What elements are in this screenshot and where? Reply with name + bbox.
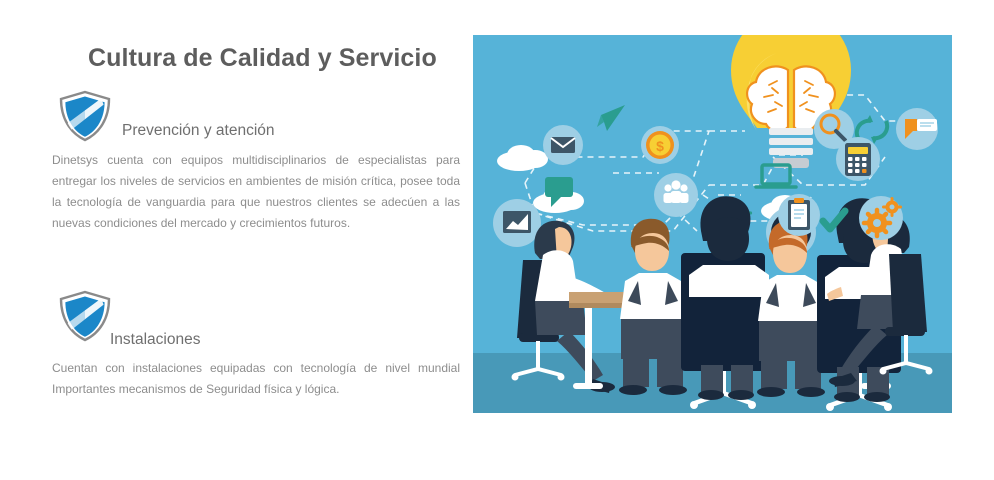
page-root: Cultura de Calidad y Servicio Prevención…: [0, 0, 994, 480]
envelope-icon: [543, 125, 583, 165]
feature-title: Instalaciones: [110, 331, 200, 349]
feature-body: Cuentan con instalaciones equipadas con …: [52, 358, 460, 400]
chat-list-icon: [896, 108, 938, 150]
shield-icon: [57, 288, 113, 344]
feature-title: Prevención y atención: [122, 122, 275, 140]
page-title: Cultura de Calidad y Servicio: [88, 44, 437, 73]
feature-paragraph: Dinetsys cuenta con equipos multidiscipl…: [52, 150, 460, 234]
feature-body: Dinetsys cuenta con equipos multidiscipl…: [52, 150, 460, 234]
svg-text:$: $: [656, 138, 664, 154]
feature-paragraph: Cuentan con instalaciones equipadas con …: [52, 358, 460, 400]
shield-icon: [57, 88, 113, 144]
orange-gears-icon: [859, 196, 903, 240]
clipboard-icon: [778, 194, 820, 236]
dollar-coin-icon: $: [641, 126, 679, 164]
laptop-icon: [924, 166, 925, 167]
content-column: Cultura de Calidad y Servicio Prevención…: [0, 0, 473, 480]
chart-icon: [493, 199, 541, 247]
people-group-icon: [654, 173, 698, 217]
illustration-image: $: [473, 35, 952, 413]
calculator-icon: [836, 137, 880, 181]
